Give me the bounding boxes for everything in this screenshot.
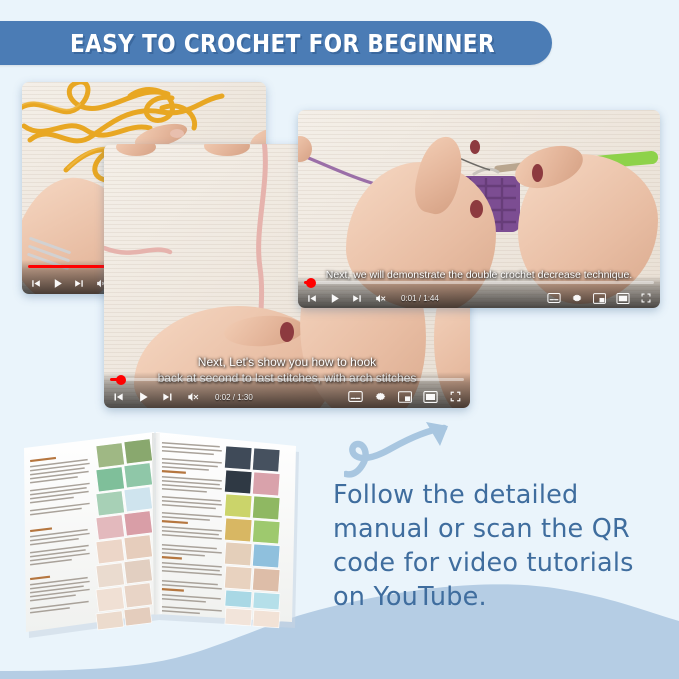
play-icon[interactable] xyxy=(51,277,64,290)
instruction-manual-photo[interactable] xyxy=(4,424,320,644)
time-display: 0:02 / 1:30 xyxy=(215,393,253,402)
promo-line-3: code for video tutorials xyxy=(333,546,663,580)
next-track-icon[interactable] xyxy=(73,277,86,290)
subtitles-icon[interactable] xyxy=(547,293,561,303)
fingernail xyxy=(470,140,480,154)
promo-line-1: Follow the detailed xyxy=(333,478,663,512)
curly-arrow-up-right-icon xyxy=(344,420,464,482)
theater-mode-icon[interactable] xyxy=(616,293,630,304)
previous-track-icon[interactable] xyxy=(305,292,318,305)
next-track-icon[interactable] xyxy=(161,390,175,404)
subtitles-icon[interactable] xyxy=(348,391,363,402)
promo-text-block: Follow the detailed manual or scan the Q… xyxy=(333,478,663,614)
play-icon[interactable] xyxy=(136,390,150,404)
promo-line-2: manual or scan the QR xyxy=(333,512,663,546)
page-title: EASY TO CROCHET FOR BEGINNER xyxy=(70,22,521,64)
play-icon[interactable] xyxy=(328,292,341,305)
previous-track-icon[interactable] xyxy=(29,277,42,290)
video-frame-double-crochet: Next, we will demonstrate the double cro… xyxy=(298,110,660,308)
miniplayer-icon[interactable] xyxy=(398,391,412,403)
settings-gear-icon[interactable] xyxy=(571,292,583,304)
previous-track-icon[interactable] xyxy=(111,390,125,404)
fullscreen-icon[interactable] xyxy=(449,390,462,403)
player-controls-bar: 0:02 / 1:30 xyxy=(104,372,470,408)
progress-handle[interactable] xyxy=(306,278,316,288)
promo-line-4: on YouTube. xyxy=(333,580,663,614)
theater-mode-icon[interactable] xyxy=(423,391,438,403)
fingernail xyxy=(532,164,543,182)
miniplayer-icon[interactable] xyxy=(593,293,606,304)
screenshot-double-crochet-decrease[interactable]: Next, we will demonstrate the double cro… xyxy=(298,110,660,308)
settings-gear-icon[interactable] xyxy=(374,390,387,403)
fingernail xyxy=(170,129,184,138)
next-track-icon[interactable] xyxy=(351,292,364,305)
mute-icon[interactable] xyxy=(374,292,387,305)
progress-bar[interactable] xyxy=(110,378,464,381)
time-display: 0:01 / 1:44 xyxy=(401,294,439,303)
fingernail xyxy=(470,200,483,218)
player-controls-bar: 0:01 / 1:44 xyxy=(298,276,660,308)
caption-line-1: Next, Let's show you how to hook xyxy=(104,354,470,370)
mute-icon[interactable] xyxy=(186,390,200,404)
progress-bar[interactable] xyxy=(304,281,654,284)
progress-handle[interactable] xyxy=(116,375,126,385)
fullscreen-icon[interactable] xyxy=(640,292,652,304)
fingernail xyxy=(280,322,294,342)
